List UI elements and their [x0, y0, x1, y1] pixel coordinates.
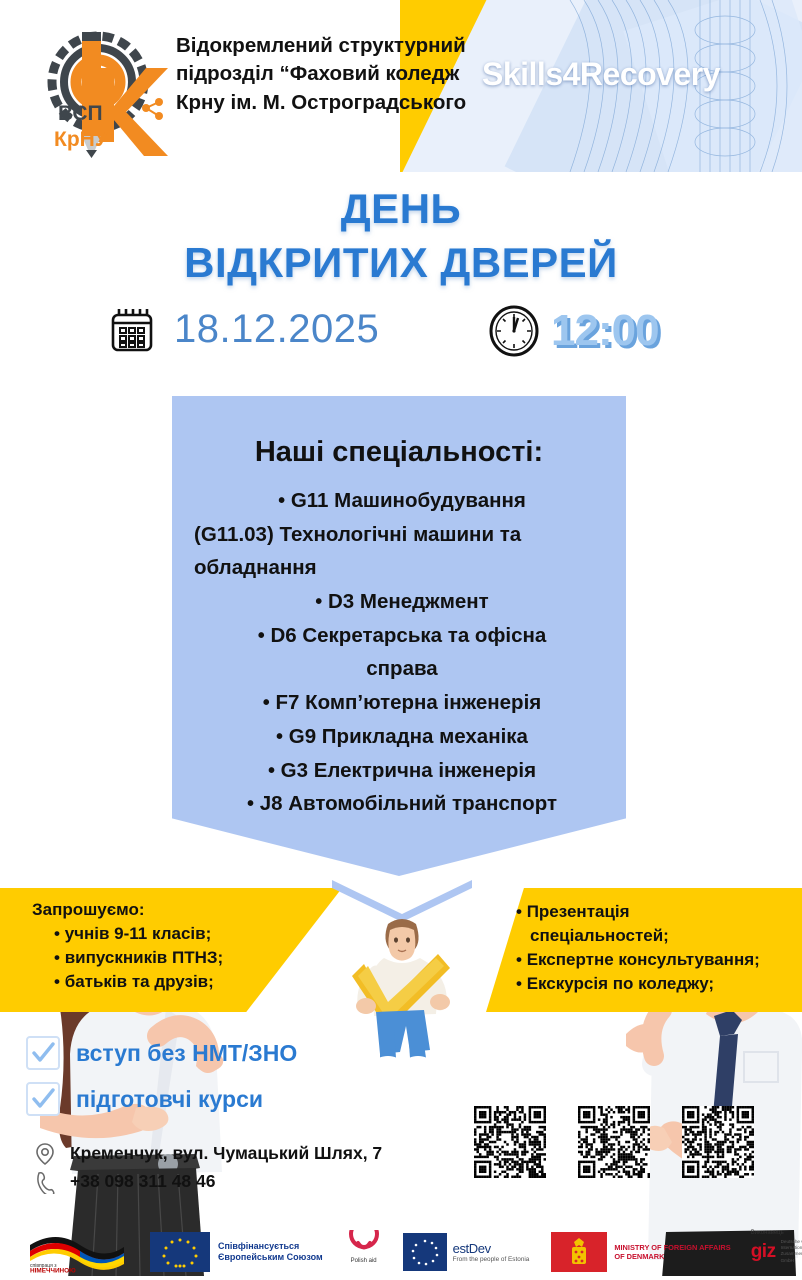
- giz-logo: Виконавець giz Deutsche Gesellschaft für…: [751, 1230, 802, 1274]
- germany-line2: НІМЕЧЧИНОЮ: [30, 1268, 76, 1275]
- estdev-flag-icon: [403, 1233, 447, 1271]
- checkbox-checked-icon[interactable]: [26, 1036, 60, 1070]
- phone-icon: [34, 1170, 56, 1194]
- specialty-item: • G3 Електрична інженерія: [194, 756, 610, 786]
- polish-aid-label: Polish aid: [351, 1258, 377, 1264]
- band-item-label: батьків та друзів;: [65, 972, 214, 991]
- band-list-item: • випускників ПТНЗ;: [54, 946, 312, 970]
- event-time: 12:00: [551, 306, 659, 356]
- specialty-label: D6 Секретарська та офісна: [270, 624, 546, 647]
- title-line-1: ДЕНЬ: [0, 182, 802, 236]
- specialty-label: J8 Автомобільний транспорт: [260, 792, 557, 815]
- specialty-item: • D6 Секретарська та офісна: [194, 621, 610, 651]
- highlight-label-1: підготовчі курси: [76, 1086, 263, 1113]
- clock-icon: [487, 304, 541, 358]
- band-item-label: учнів 9-11 класів;: [65, 924, 212, 943]
- specialties-list: • G11 Машинобудування(G11.03) Технологіч…: [172, 486, 626, 823]
- specialty-label: G9 Прикладна механіка: [289, 725, 528, 748]
- specialty-item: обладнання: [194, 553, 610, 583]
- giz-wordmark: giz: [751, 1242, 776, 1261]
- skills4recovery-banner: Skills4Recovery: [400, 0, 802, 172]
- denmark-label: MINISTRY OF FOREIGN AFFAIRS OF DENMARK: [614, 1243, 730, 1262]
- title-line-2: ВІДКРИТИХ ДВЕРЕЙ: [0, 236, 802, 290]
- giz-description: Deutsche Gesellschaft für Internationale…: [781, 1239, 802, 1264]
- specialties-heading: Наші спеціальності:: [172, 436, 626, 469]
- specialty-label: обладнання: [194, 556, 317, 579]
- specialty-item: (G11.03) Технологічні машини та: [194, 520, 610, 550]
- band-item-label: випускників ПТНЗ;: [65, 948, 223, 967]
- donor-logos-footer: співпраця з НІМЕЧЧИНОЮ Співфінансується …: [0, 1224, 802, 1280]
- specialty-label: D3 Менеджмент: [328, 590, 489, 613]
- band-list-item: • Екскурсія по коледжу;: [516, 972, 784, 996]
- page-title: ДЕНЬ ВІДКРИТИХ ДВЕРЕЙ: [0, 182, 802, 290]
- bullet-icon: •: [315, 591, 322, 613]
- polish-aid-logo: Polish aid: [347, 1230, 381, 1274]
- highlight-row: підготовчі курси: [26, 1082, 446, 1116]
- specialty-label: G11 Машинобудування: [291, 489, 526, 512]
- specialty-item: • G9 Прикладна механіка: [194, 722, 610, 752]
- event-meta: 18.12.2025 12:00: [0, 300, 802, 380]
- band-item-label: Презентація: [527, 902, 630, 921]
- contact-address-row: Кременчук, вул. Чумацький Шлях, 7: [34, 1142, 494, 1166]
- band-list-item: спеціальностей;: [516, 924, 784, 948]
- bullet-icon: •: [258, 625, 265, 647]
- bullet-icon: •: [516, 974, 522, 993]
- specialty-item: • J8 Автомобільний транспорт: [194, 789, 610, 819]
- band-list-item: • батьків та друзів;: [54, 970, 312, 994]
- bullet-icon: •: [516, 950, 522, 969]
- bullet-icon: •: [263, 692, 270, 714]
- germany-cooperation-logo: співпраця з НІМЕЧЧИНОЮ: [24, 1230, 128, 1274]
- specialty-item: • F7 Комп’ютерна інженерія: [194, 688, 610, 718]
- poster-header: Skills4Recovery ВСП: [0, 0, 802, 172]
- band-item-label: Експертне консультування;: [527, 950, 760, 969]
- estdev-label: estDev From the people of Estonia: [453, 1241, 530, 1263]
- bullet-icon: •: [247, 793, 254, 815]
- denmark-mfa-logo: MINISTRY OF FOREIGN AFFAIRS OF DENMARK: [551, 1230, 730, 1274]
- band-list-item: • учнів 9-11 класів;: [54, 922, 312, 946]
- band-list-item: • Експертне консультування;: [516, 948, 784, 972]
- specialties-panel-wrap: Наші спеціальності: • G11 Машинобудуванн…: [0, 396, 802, 876]
- denmark-crest-icon: [551, 1232, 607, 1272]
- eu-label: Співфінансується Європейським Союзом: [218, 1241, 323, 1264]
- calendar-icon: [108, 304, 156, 354]
- college-logo-icon: ВСП КрНУ: [28, 24, 168, 164]
- logo-text-krnu: КрНУ: [54, 128, 109, 151]
- event-date-group: 18.12.2025: [108, 304, 379, 354]
- banner-title: Skills4Recovery: [400, 56, 802, 93]
- estdev-logo: estDev From the people of Estonia: [403, 1230, 530, 1274]
- contact-phone-row: +38 098 311 48 46: [34, 1170, 494, 1194]
- band-item-label: спеціальностей;: [530, 926, 669, 945]
- specialty-label: (G11.03) Технологічні машини та: [194, 523, 521, 546]
- molecule-dots: [142, 98, 163, 120]
- bullet-icon: •: [276, 726, 283, 748]
- specialty-item: • D3 Менеджмент: [194, 587, 610, 617]
- logo-text-vsp: ВСП: [58, 102, 103, 125]
- eu-cofunding-logo: Співфінансується Європейським Союзом: [150, 1230, 323, 1274]
- band-item-label: Екскурсія по коледжу;: [527, 974, 714, 993]
- program-text: • Презентаціяспеціальностей;• Експертне …: [516, 900, 784, 997]
- invite-items: • учнів 9-11 класів;• випускників ПТНЗ;•…: [32, 922, 312, 994]
- specialty-label: справа: [366, 657, 437, 680]
- eu-flag-icon: [150, 1232, 210, 1272]
- specialty-item: справа: [194, 654, 610, 684]
- location-pin-icon: [34, 1142, 56, 1166]
- checkbox-checked-icon[interactable]: [26, 1082, 60, 1116]
- invite-heading: Запрошуємо:: [32, 898, 312, 922]
- qr-code-group: [474, 1106, 754, 1178]
- event-time-group: 12:00: [487, 304, 659, 358]
- bullet-icon: •: [268, 760, 275, 782]
- highlight-row: вступ без НМТ/ЗНО: [26, 1036, 446, 1070]
- bullet-icon: •: [54, 972, 60, 991]
- contact-address: Кременчук, вул. Чумацький Шлях, 7: [70, 1142, 382, 1166]
- bullet-icon: •: [516, 902, 522, 921]
- contact-phone: +38 098 311 48 46: [70, 1170, 216, 1194]
- specialty-label: F7 Комп’ютерна інженерія: [275, 691, 541, 714]
- specialty-label: G3 Електрична інженерія: [281, 759, 536, 782]
- qr-code-1[interactable]: [474, 1106, 546, 1178]
- specialty-item: • G11 Машинобудування: [194, 486, 610, 516]
- invite-text: Запрошуємо: • учнів 9-11 класів;• випуск…: [32, 898, 312, 995]
- bullet-icon: •: [278, 490, 285, 512]
- contact-block: Кременчук, вул. Чумацький Шлях, 7 +38 09…: [34, 1142, 494, 1198]
- band-list-item: • Презентація: [516, 900, 784, 924]
- bullet-icon: •: [54, 924, 60, 943]
- highlights-list: вступ без НМТ/ЗНО підготовчі курси: [26, 1036, 446, 1128]
- qr-code-2[interactable]: [578, 1106, 650, 1178]
- program-items: • Презентаціяспеціальностей;• Експертне …: [516, 900, 784, 997]
- qr-code-3[interactable]: [682, 1106, 754, 1178]
- highlight-label-0: вступ без НМТ/ЗНО: [76, 1040, 297, 1067]
- bullet-icon: •: [54, 948, 60, 967]
- event-date: 18.12.2025: [174, 307, 379, 352]
- poster-root: Skills4Recovery ВСП: [0, 0, 802, 1280]
- giz-executor-label: Виконавець: [751, 1230, 784, 1236]
